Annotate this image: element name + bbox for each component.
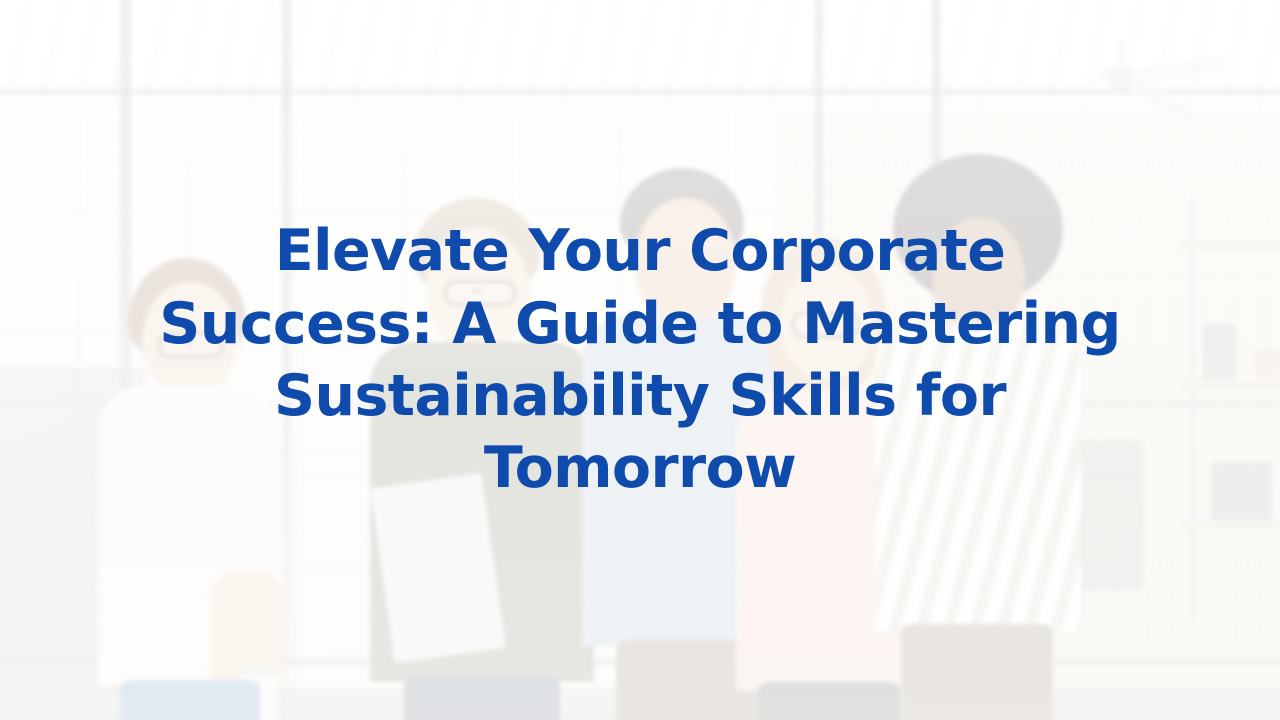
hero-banner: Elevate Your CorporateSuccess: A Guide t… bbox=[0, 0, 1280, 720]
page-title: Elevate Your CorporateSuccess: A Guide t… bbox=[70, 215, 1210, 505]
headline-container: Elevate Your CorporateSuccess: A Guide t… bbox=[0, 0, 1280, 720]
